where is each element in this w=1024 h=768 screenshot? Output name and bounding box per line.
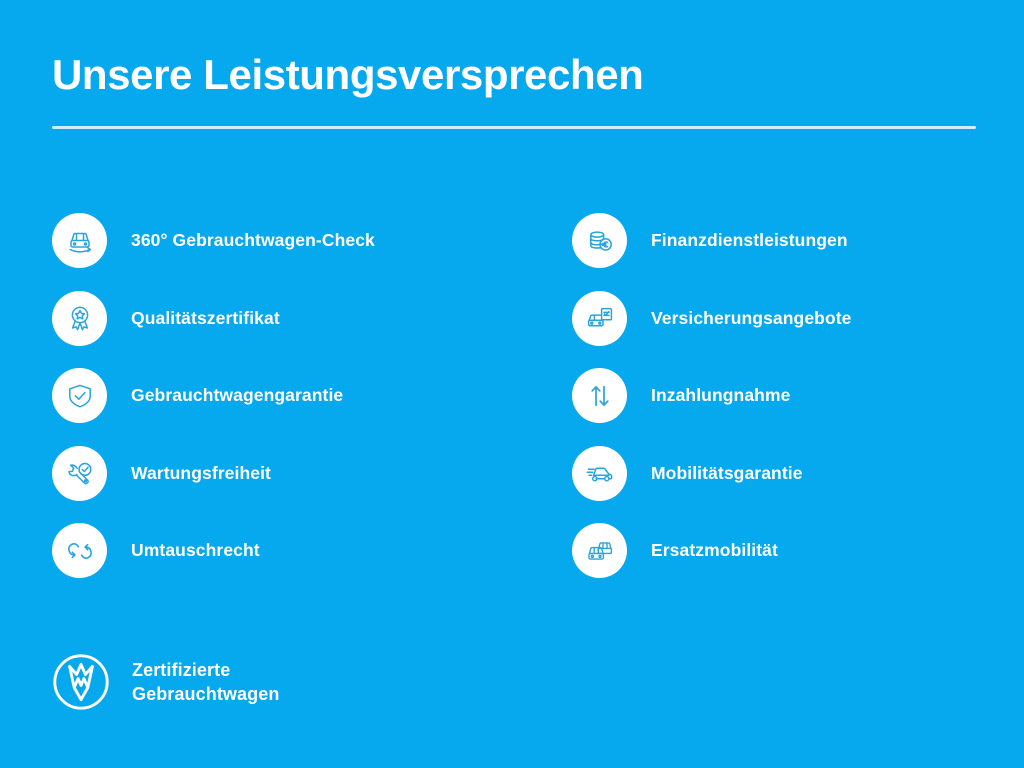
- volkswagen-logo-icon: [52, 653, 110, 711]
- benefit-label: Versicherungsangebote: [651, 308, 852, 329]
- benefit-label: Ersatzmobilität: [651, 540, 778, 561]
- brand-line-2: Gebrauchtwagen: [132, 682, 279, 706]
- up-down-arrows-icon: [572, 368, 627, 423]
- car-document-check-icon: [572, 291, 627, 346]
- page-title: Unsere Leistungsversprechen: [52, 52, 976, 97]
- benefit-item-ersatzmobilitaet[interactable]: Ersatzmobilität: [572, 512, 976, 590]
- shield-check-icon: [52, 368, 107, 423]
- benefit-item-inzahlungnahme[interactable]: Inzahlungnahme: [572, 357, 976, 435]
- benefit-label: Mobilitätsgarantie: [651, 463, 803, 484]
- benefit-label: Gebrauchtwagengarantie: [131, 385, 343, 406]
- benefit-item-qualitaetszertifikat[interactable]: Qualitätszertifikat: [52, 280, 572, 358]
- benefit-item-versicherungsangebote[interactable]: Versicherungsangebote: [572, 280, 976, 358]
- benefit-item-umtauschrecht[interactable]: Umtauschrecht: [52, 512, 572, 590]
- brand-text: Zertifizierte Gebrauchtwagen: [132, 658, 279, 707]
- car-360-check-icon: [52, 213, 107, 268]
- two-cars-icon: [572, 523, 627, 578]
- coins-euro-icon: [572, 213, 627, 268]
- brand-lockup: Zertifizierte Gebrauchtwagen: [52, 653, 279, 711]
- exchange-arrows-icon: [52, 523, 107, 578]
- benefit-label: 360° Gebrauchtwagen-Check: [131, 230, 375, 251]
- benefit-label: Finanzdienstleistungen: [651, 230, 848, 251]
- title-divider: [52, 126, 976, 129]
- benefit-label: Inzahlungnahme: [651, 385, 790, 406]
- brand-line-1: Zertifizierte: [132, 658, 279, 682]
- benefit-label: Umtauschrecht: [131, 540, 260, 561]
- benefit-item-finanzdienstleistungen[interactable]: Finanzdienstleistungen: [572, 202, 976, 280]
- award-rosette-icon: [52, 291, 107, 346]
- header: Unsere Leistungsversprechen: [52, 52, 976, 129]
- benefit-item-gebrauchtwagen-check[interactable]: 360° Gebrauchtwagen-Check: [52, 202, 572, 280]
- benefit-label: Qualitätszertifikat: [131, 308, 280, 329]
- car-motion-icon: [572, 446, 627, 501]
- benefit-item-wartungsfreiheit[interactable]: Wartungsfreiheit: [52, 435, 572, 513]
- promo-slide: Unsere Leistungsversprechen 360° Gebrauc…: [0, 0, 1024, 768]
- benefit-item-gebrauchtwagengarantie[interactable]: Gebrauchtwagengarantie: [52, 357, 572, 435]
- benefit-item-mobilitaetsgarantie[interactable]: Mobilitätsgarantie: [572, 435, 976, 513]
- benefits-grid: 360° Gebrauchtwagen-Check Finanzdienstle…: [52, 202, 976, 590]
- wrench-check-icon: [52, 446, 107, 501]
- benefit-label: Wartungsfreiheit: [131, 463, 271, 484]
